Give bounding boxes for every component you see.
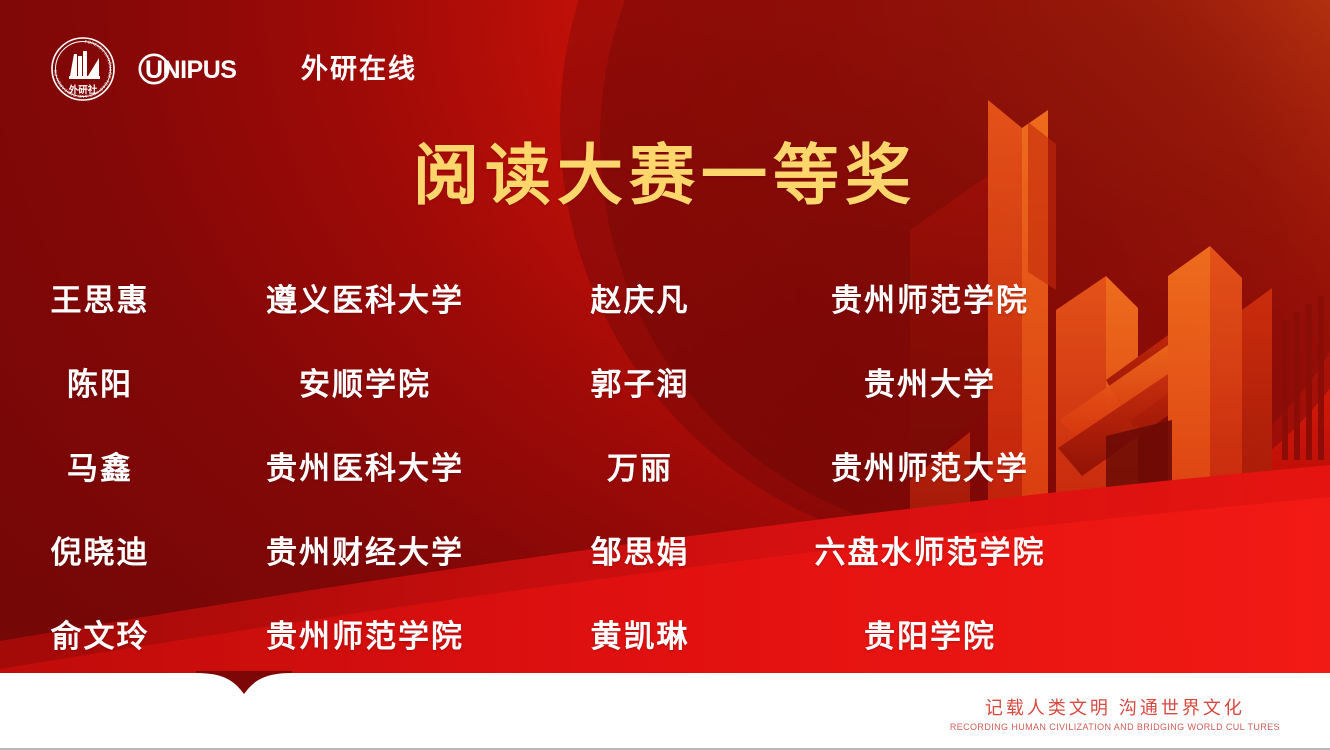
winner-school: 贵州医科大学	[200, 443, 530, 488]
winner-name: 王思惠	[0, 275, 200, 320]
winners-list: 王思惠 遵义医科大学 赵庆凡 贵州师范学院 陈阳 安顺学院 郭子润 贵州大学 马…	[0, 255, 1330, 675]
unipus-wordmark: UNIPUS	[138, 52, 283, 86]
winner-school: 贵州大学	[750, 359, 1110, 404]
winner-name: 郭子润	[530, 359, 750, 404]
winner-name: 万丽	[530, 443, 750, 488]
slogan-cn: 记载人类文明 沟通世界文化	[950, 697, 1280, 720]
unipus-lockup: UNIPUS 外研在线	[138, 52, 417, 86]
winner-row: 俞文玲 贵州师范学院 黄凯琳 贵阳学院	[0, 591, 1330, 675]
brand-cn-label: 外研在线	[301, 56, 417, 83]
fltrp-seal-logo: FOREIGN LANGUAGE TEACHING AND RESEARCH P…	[50, 36, 116, 102]
svg-text:UNIPUS: UNIPUS	[145, 56, 236, 84]
winner-name: 倪晓迪	[0, 527, 200, 572]
winner-name: 俞文玲	[0, 611, 200, 656]
winner-row: 倪晓迪 贵州财经大学 邹思娟 六盘水师范学院	[0, 507, 1330, 591]
winner-row: 马鑫 贵州医科大学 万丽 贵州师范大学	[0, 423, 1330, 507]
winner-row: 王思惠 遵义医科大学 赵庆凡 贵州师范学院	[0, 255, 1330, 339]
winner-name: 赵庆凡	[530, 275, 750, 320]
winner-school: 贵州财经大学	[200, 527, 530, 572]
winner-school: 安顺学院	[200, 359, 530, 404]
winner-school: 遵义医科大学	[200, 275, 530, 320]
winner-row: 陈阳 安顺学院 郭子润 贵州大学	[0, 339, 1330, 423]
winner-name: 陈阳	[0, 359, 200, 404]
winner-school: 贵州师范学院	[200, 611, 530, 656]
winner-school: 贵州师范学院	[750, 275, 1110, 320]
winner-school: 贵州师范大学	[750, 443, 1110, 488]
winner-name: 邹思娟	[530, 527, 750, 572]
slogan-en: RECORDING HUMAN CIVILIZATION AND BRIDGIN…	[950, 722, 1280, 734]
page-title: 阅读大赛一等奖	[0, 141, 1330, 210]
winner-name: 马鑫	[0, 443, 200, 488]
award-slide: FOREIGN LANGUAGE TEACHING AND RESEARCH P…	[0, 0, 1330, 750]
winner-school: 贵阳学院	[750, 611, 1110, 656]
footer-slogan: 记载人类文明 沟通世界文化 RECORDING HUMAN CIVILIZATI…	[950, 697, 1280, 733]
winner-school: 六盘水师范学院	[750, 527, 1110, 572]
brand-header: FOREIGN LANGUAGE TEACHING AND RESEARCH P…	[50, 36, 417, 102]
winner-name: 黄凯琳	[530, 611, 750, 656]
svg-text:外研社: 外研社	[68, 84, 98, 96]
